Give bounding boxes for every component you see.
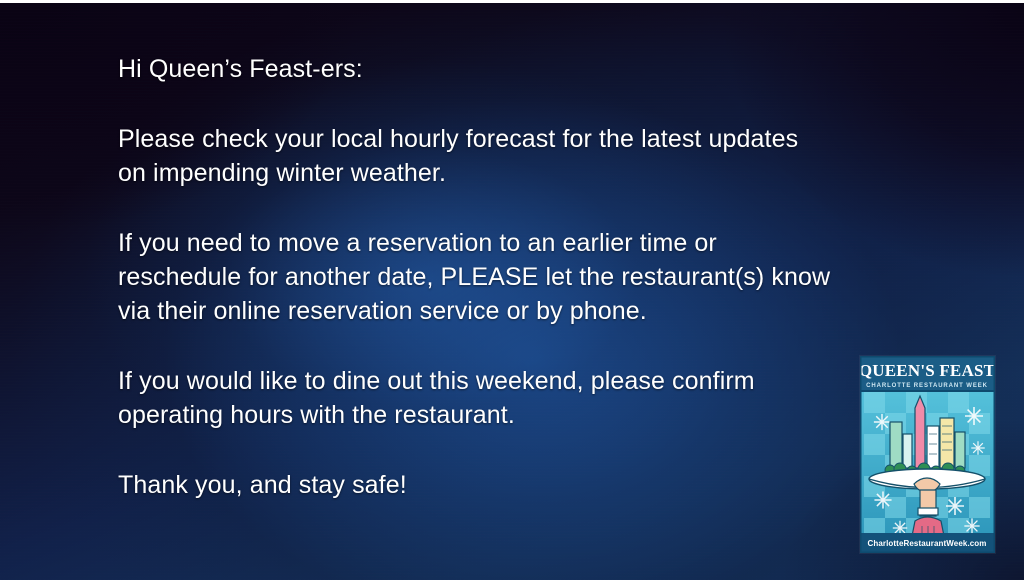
- reservation-paragraph: If you need to move a reservation to an …: [118, 226, 918, 328]
- message-body: Hi Queen’s Feast-ers: Please check your …: [118, 52, 918, 502]
- greeting-line: Hi Queen’s Feast-ers:: [118, 52, 918, 86]
- closing-paragraph: Thank you, and stay safe!: [118, 468, 918, 502]
- slide-canvas: Hi Queen’s Feast-ers: Please check your …: [0, 0, 1024, 580]
- logo-title-text: QUEEN'S FEAST: [860, 361, 995, 380]
- logo-footer-url-text: CharlotteRestaurantWeek.com: [867, 539, 986, 548]
- forecast-paragraph: Please check your local hourly forecast …: [118, 122, 918, 190]
- queens-feast-logo: QUEEN'S FEAST CHARLOTTE RESTAURANT WEEK …: [860, 356, 995, 553]
- queens-feast-logo-artwork: QUEEN'S FEAST CHARLOTTE RESTAURANT WEEK …: [860, 356, 995, 553]
- top-white-strip: [0, 0, 1024, 3]
- logo-subtitle-text: CHARLOTTE RESTAURANT WEEK: [866, 383, 988, 389]
- operating-hours-paragraph: If you would like to dine out this weeke…: [118, 364, 918, 432]
